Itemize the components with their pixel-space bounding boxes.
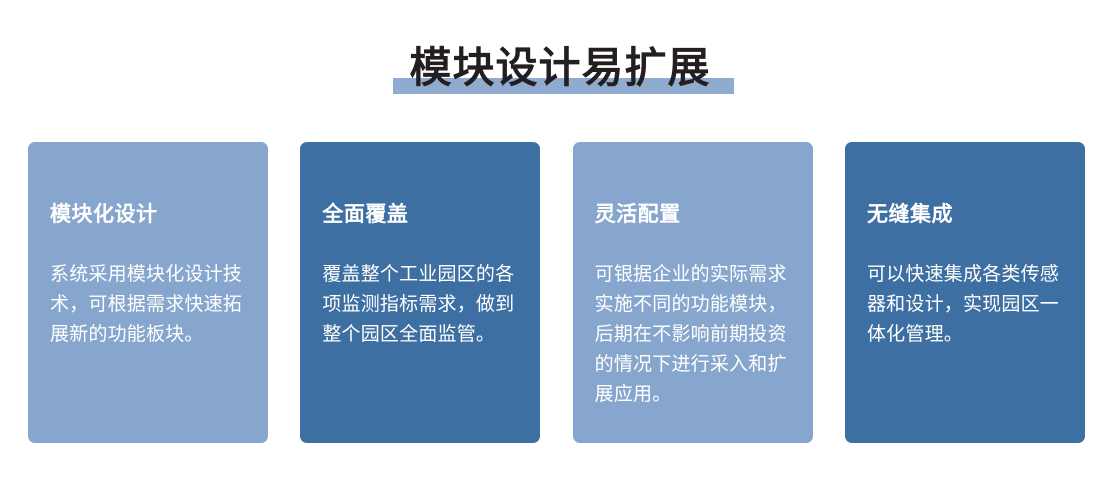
feature-card-2-body: 覆盖整个工业园区的各项监测指标需求，做到整个园区全面监管。: [322, 260, 519, 350]
feature-card-1[interactable]: 模块化设计 系统采用模块化设计技术，可根据需求快速拓展新的功能板块。: [28, 142, 268, 443]
feature-card-3-heading: 灵活配置: [595, 202, 792, 228]
feature-card-3[interactable]: 灵活配置 可银据企业的实际需求实施不同的功能模块，后期在不影响前期投资的情况下进…: [573, 142, 813, 443]
feature-card-1-heading: 模块化设计: [50, 202, 247, 228]
slide-root: 模块设计易扩展 模块化设计 系统采用模块化设计技术，可根据需求快速拓展新的功能板…: [0, 0, 1120, 487]
feature-card-1-body: 系统采用模块化设计技术，可根据需求快速拓展新的功能板块。: [50, 260, 247, 350]
feature-card-list: 模块化设计 系统采用模块化设计技术，可根据需求快速拓展新的功能板块。 全面覆盖 …: [28, 142, 1085, 443]
feature-card-2-heading: 全面覆盖: [322, 202, 519, 228]
feature-card-4-heading: 无缝集成: [867, 202, 1064, 228]
page-title: 模块设计易扩展: [0, 40, 1120, 96]
feature-card-4-body: 可以快速集成各类传感器和设计，实现园区一体化管理。: [867, 260, 1064, 350]
feature-card-4[interactable]: 无缝集成 可以快速集成各类传感器和设计，实现园区一体化管理。: [845, 142, 1085, 443]
feature-card-2[interactable]: 全面覆盖 覆盖整个工业园区的各项监测指标需求，做到整个园区全面监管。: [300, 142, 540, 443]
feature-card-3-body: 可银据企业的实际需求实施不同的功能模块，后期在不影响前期投资的情况下进行采入和扩…: [595, 260, 792, 410]
title-block: 模块设计易扩展: [0, 40, 1120, 102]
